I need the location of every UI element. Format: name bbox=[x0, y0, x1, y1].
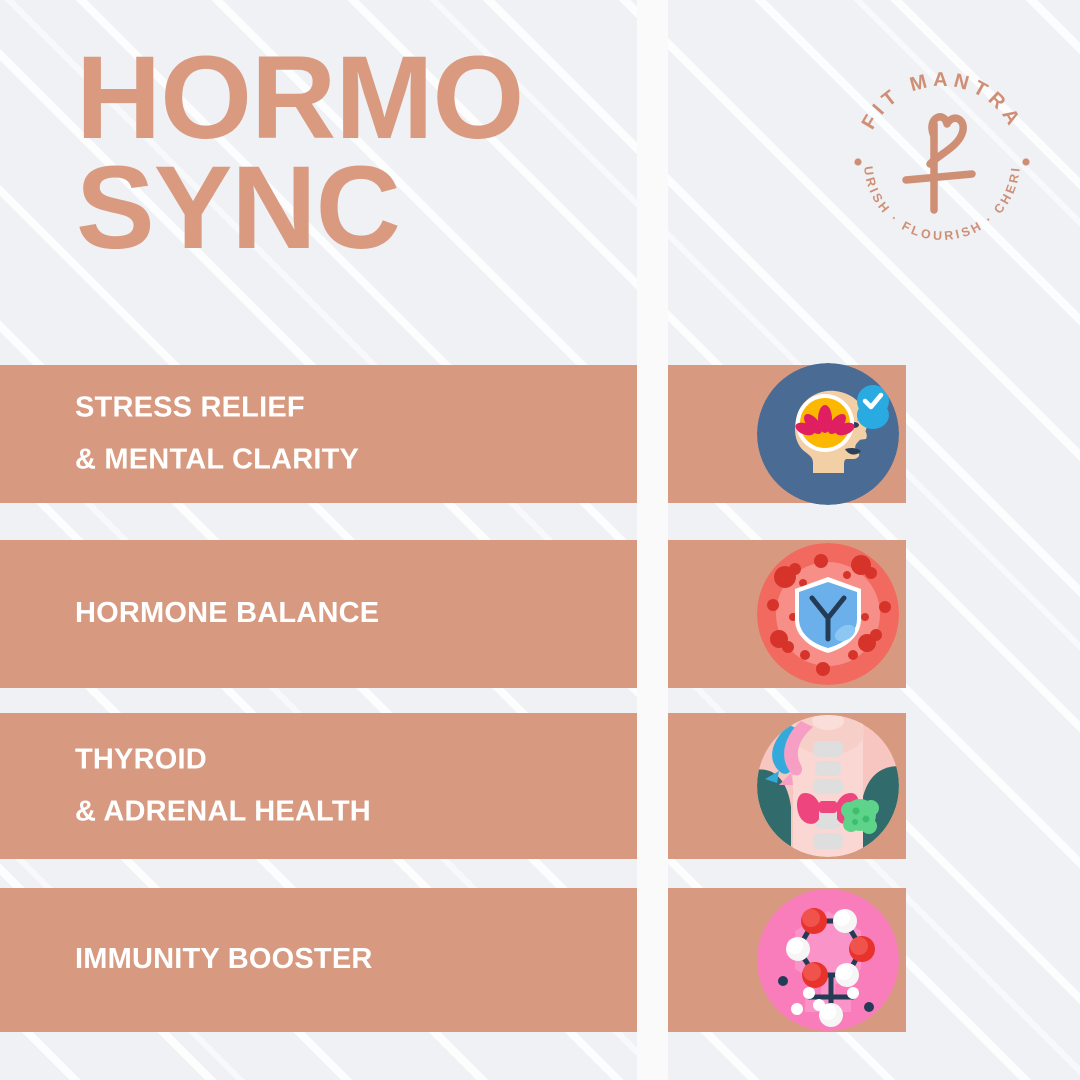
poster-canvas: HORMO SYNC FIT MANTRA NOURISH · FLOURISH… bbox=[0, 0, 1080, 1080]
feature-label: THYROID & ADRENAL HEALTH bbox=[75, 734, 371, 837]
feature-label: IMMUNITY BOOSTER bbox=[75, 934, 373, 986]
feature-label: HORMONE BALANCE bbox=[75, 588, 379, 640]
feature-row-stress-relief[interactable]: STRESS RELIEF & MENTAL CLARITY bbox=[0, 365, 1080, 503]
feature-row-hormone-balance[interactable]: HORMONE BALANCE bbox=[0, 540, 1080, 688]
page-title: HORMO SYNC bbox=[76, 44, 523, 263]
feature-row-immunity-booster[interactable]: IMMUNITY BOOSTER bbox=[0, 888, 1080, 1032]
svg-text:FIT MANTRA: FIT MANTRA bbox=[858, 69, 1027, 133]
title-line-1: HORMO bbox=[76, 44, 523, 154]
feature-label-line: HORMONE BALANCE bbox=[75, 588, 379, 640]
feature-label-line: THYROID bbox=[75, 734, 371, 786]
feature-label-line: & MENTAL CLARITY bbox=[75, 434, 359, 486]
feature-label-line: STRESS RELIEF bbox=[75, 382, 359, 434]
logo-arc-top-text: FIT MANTRA bbox=[858, 69, 1027, 133]
antibody-shield-blood-cell-icon bbox=[757, 543, 899, 685]
brand-logo: FIT MANTRA NOURISH · FLOURISH · CHERISH bbox=[842, 62, 1042, 262]
column-seam-divider bbox=[637, 0, 668, 1080]
head-lotus-mindfulness-icon bbox=[757, 363, 899, 505]
feature-label-line: IMMUNITY BOOSTER bbox=[75, 934, 373, 986]
feature-row-thyroid-adrenal[interactable]: THYROID & ADRENAL HEALTH bbox=[0, 713, 1080, 859]
feature-label-line: & ADRENAL HEALTH bbox=[75, 786, 371, 838]
logo-monogram-f-heart-icon bbox=[906, 117, 972, 210]
hormone-molecule-icon bbox=[757, 889, 899, 1031]
feature-label: STRESS RELIEF & MENTAL CLARITY bbox=[75, 382, 359, 485]
thyroid-gland-ribbon-icon bbox=[757, 715, 899, 857]
title-line-2: SYNC bbox=[76, 154, 523, 264]
